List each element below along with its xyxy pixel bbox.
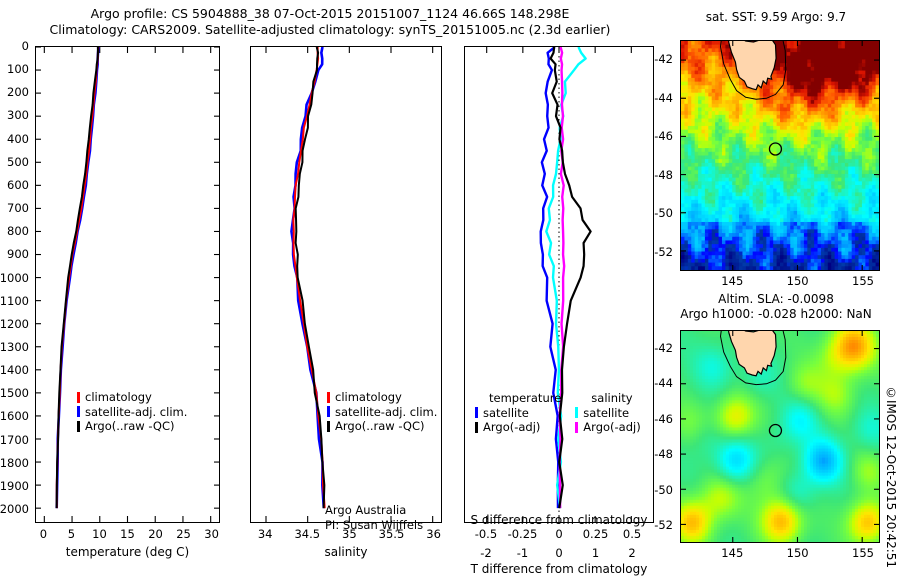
tick-label: -2 (480, 546, 491, 560)
sla-map-title: Altim. SLA: -0.0098 Argo h1000: -0.028 h… (660, 292, 892, 322)
legend-label: Argo(-adj) (483, 420, 540, 435)
tick-label: 145 (721, 274, 743, 288)
legend-item: satellite-adj. clim. (77, 405, 187, 420)
legend-group: temperaturesatelliteArgo(-adj) (475, 391, 561, 435)
tick-label: 30 (204, 527, 219, 541)
tick-label: 400 (7, 132, 29, 146)
tick-label: -50 (654, 206, 673, 220)
legend-item: climatology (77, 390, 187, 405)
legend-group-title: salinity (591, 391, 640, 406)
sst-map-image (681, 41, 879, 270)
legend-label: Argo(-adj) (583, 420, 640, 435)
title-line-2: Climatology: CARS2009. Satellite-adjuste… (0, 22, 660, 38)
temperature-y-ticklabels: 0100200300400500600700800900100011001200… (0, 46, 33, 523)
tick-label: -50 (654, 483, 673, 497)
legend-color-swatch (327, 421, 330, 432)
difference-top-axis-label: S difference from climatology (454, 513, 664, 527)
sst-map-x-ticklabels: 145150155 (680, 274, 880, 289)
legend-label: satellite-adj. clim. (335, 405, 437, 420)
legend-color-swatch (327, 392, 330, 403)
legend-item: Argo(..raw -QC) (77, 419, 187, 434)
legend-label: climatology (335, 390, 402, 405)
tick-label: 155 (852, 274, 874, 288)
tick-label: 1100 (0, 294, 29, 308)
tick-label: 10 (92, 527, 107, 541)
legend-item: Argo(..raw -QC) (327, 419, 437, 434)
tick-label: 1300 (0, 340, 29, 354)
legend-item: Argo(-adj) (575, 420, 640, 435)
salinity-panel[interactable] (250, 46, 442, 523)
imos-credit: ©IMOS 12-Oct-2015 20:42:51 (884, 386, 898, 568)
tick-label: 2 (628, 546, 635, 560)
legend-color-swatch (77, 421, 80, 432)
tick-label: 1500 (0, 386, 29, 400)
legend-label: satellite (483, 406, 529, 421)
legend-label: satellite-adj. clim. (85, 405, 187, 420)
tick-label: 20 (148, 527, 163, 541)
tick-label: -48 (654, 447, 673, 461)
tick-label: -48 (654, 168, 673, 182)
tick-label: -42 (654, 341, 673, 355)
legend-label: Argo(..raw -QC) (335, 419, 425, 434)
tick-label: 0.5 (623, 527, 641, 541)
difference-legend: temperaturesatelliteArgo(-adj)salinitysa… (475, 391, 641, 435)
temperature-profile-plot (36, 47, 219, 522)
tick-label: -44 (654, 376, 673, 390)
tick-label: 1200 (0, 317, 29, 331)
legend-color-swatch (77, 392, 80, 403)
tick-label: -0.5 (475, 527, 497, 541)
legend-item: satellite (575, 406, 640, 421)
legend-label: Argo(..raw -QC) (85, 419, 175, 434)
tick-label: -52 (654, 245, 673, 259)
difference-bottom-axis-label: T difference from climatology (454, 562, 664, 576)
tick-label: 900 (7, 247, 29, 261)
tick-label: 0 (555, 527, 562, 541)
legend-label: satellite (583, 406, 629, 421)
sla-map-panel[interactable] (680, 330, 880, 543)
sla-map-x-ticklabels: 145150155 (680, 546, 880, 561)
temperature-x-ticklabels: 051015202530 (35, 527, 220, 543)
tick-label: 800 (7, 224, 29, 238)
tick-label: -1 (517, 546, 528, 560)
legend-color-swatch (475, 407, 478, 418)
legend-item: climatology (327, 390, 437, 405)
salinity-profile-plot (251, 47, 441, 522)
attribution-line-2: PI: Susan Wijffels (325, 518, 423, 533)
legend-group: salinitysatelliteArgo(-adj) (575, 391, 640, 435)
tick-label: 1 (592, 546, 599, 560)
attribution-block: Argo Australia PI: Susan Wijffels (325, 503, 423, 532)
tick-label: 1800 (0, 456, 29, 470)
tick-label: 145 (721, 546, 743, 560)
tick-label: 1700 (0, 433, 29, 447)
figure-title: Argo profile: CS 5904888_38 07-Oct-2015 … (0, 6, 660, 38)
tick-label: 1600 (0, 409, 29, 423)
tick-label: 1000 (0, 271, 29, 285)
tick-label: -0.25 (508, 527, 538, 541)
legend-color-swatch (77, 406, 80, 417)
tick-label: 600 (7, 178, 29, 192)
tick-label: 500 (7, 155, 29, 169)
tick-label: 36 (426, 527, 441, 541)
tick-label: 0.25 (583, 527, 609, 541)
tick-label: 2000 (0, 502, 29, 516)
salinity-legend: climatologysatellite-adj. clim.Argo(..ra… (327, 390, 437, 434)
sla-title-line-2: Argo h1000: -0.028 h2000: NaN (660, 307, 892, 322)
legend-item: Argo(-adj) (475, 420, 561, 435)
legend-label: climatology (85, 390, 152, 405)
sla-map-y-ticklabels: -42-44-46-48-50-52 (646, 330, 677, 543)
tick-label: 100 (7, 62, 29, 76)
tick-label: -52 (654, 518, 673, 532)
tick-label: 300 (7, 108, 29, 122)
legend-item: satellite-adj. clim. (327, 405, 437, 420)
tick-label: 150 (787, 274, 809, 288)
tick-label: 155 (852, 546, 874, 560)
tick-label: 34 (258, 527, 273, 541)
tick-label: -44 (654, 91, 673, 105)
tick-label: -46 (654, 412, 673, 426)
tick-label: 1400 (0, 363, 29, 377)
legend-item: satellite (475, 406, 561, 421)
tick-label: 0 (40, 527, 47, 541)
sla-map-image (681, 331, 879, 542)
tick-label: 150 (787, 546, 809, 560)
sst-map-y-ticklabels: -42-44-46-48-50-52 (646, 40, 677, 271)
tick-label: 0 (22, 39, 29, 53)
difference-bottom-ticklabels: -2-1012 (464, 546, 654, 561)
tick-label: -42 (654, 52, 673, 66)
tick-label: 0 (555, 546, 562, 560)
title-line-1: Argo profile: CS 5904888_38 07-Oct-2015 … (0, 6, 660, 22)
legend-color-swatch (575, 422, 578, 433)
legend-color-swatch (575, 407, 578, 418)
legend-color-swatch (475, 422, 478, 433)
temperature-axis-label: temperature (deg C) (35, 545, 220, 559)
tick-label: 1900 (0, 479, 29, 493)
difference-panel[interactable] (464, 46, 654, 523)
sla-title-line-1: Altim. SLA: -0.0098 (660, 292, 892, 307)
difference-profile-plot (465, 47, 653, 522)
tick-label: 5 (68, 527, 75, 541)
attribution-line-1: Argo Australia (325, 503, 423, 518)
tick-label: 25 (176, 527, 191, 541)
tick-label: -46 (654, 129, 673, 143)
legend-group-title: temperature (489, 391, 561, 406)
difference-top-ticklabels: -0.5-0.2500.250.5 (464, 527, 654, 542)
tick-label: 34.5 (294, 527, 320, 541)
tick-label: 700 (7, 201, 29, 215)
tick-label: 200 (7, 85, 29, 99)
salinity-axis-label: salinity (250, 545, 442, 559)
sst-map-title: sat. SST: 9.59 Argo: 9.7 (660, 10, 892, 25)
temperature-legend: climatologysatellite-adj. clim.Argo(..ra… (77, 390, 187, 434)
tick-label: 15 (120, 527, 135, 541)
sst-map-panel[interactable] (680, 40, 880, 271)
legend-color-swatch (327, 406, 330, 417)
temperature-panel[interactable] (35, 46, 220, 523)
